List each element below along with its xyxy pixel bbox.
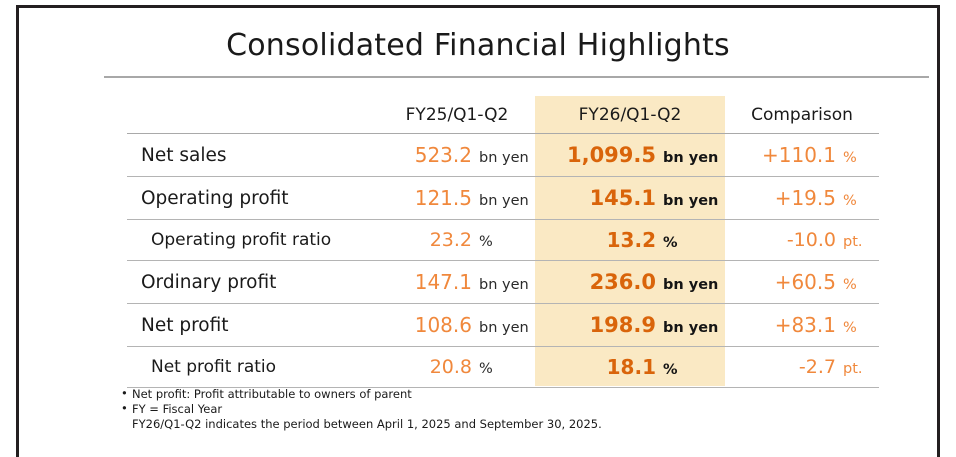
cell-unit: % [836,320,879,336]
cell-unit: bn yen [656,277,725,293]
cell-unit: bn yen [656,150,725,166]
cell-value: +83.1 [725,313,836,337]
cell-unit: % [836,193,879,209]
cell-value: 523.2 [379,143,472,167]
table-row: Operating profit ratio 23.2 % 13.2 % -10… [127,220,879,261]
cell-value: 20.8 [379,356,472,378]
table-row: Net profit ratio 20.8 % 18.1 % -2.7 pt. [127,347,879,388]
cell-comparison: -10.0 pt. [725,229,879,251]
cell-fy25: 23.2 % [379,229,535,251]
cell-value: 145.1 [535,186,656,210]
cell-fy26: 13.2 % [535,228,725,252]
footnote-subtext: FY26/Q1-Q2 indicates the period between … [119,417,602,432]
cell-comparison: +19.5 % [725,186,879,210]
cell-value: 121.5 [379,186,472,210]
row-label: Operating profit ratio [127,230,379,250]
footnote-text: FY = Fiscal Year [132,402,222,416]
cell-value: 236.0 [535,270,656,294]
row-label: Operating profit [127,188,379,209]
table-row: Ordinary profit 147.1 bn yen 236.0 bn ye… [127,261,879,304]
cell-value: 13.2 [535,228,656,252]
cell-comparison: +83.1 % [725,313,879,337]
table-row: Operating profit 121.5 bn yen 145.1 bn y… [127,177,879,220]
cell-unit: % [836,277,879,293]
cell-fy26: 198.9 bn yen [535,313,725,337]
table-row: Net profit 108.6 bn yen 198.9 bn yen +83… [127,304,879,347]
column-header-fy26: FY26/Q1-Q2 [535,96,725,134]
cell-fy25: 523.2 bn yen [379,143,535,167]
cell-unit: % [656,235,725,251]
cell-value: 108.6 [379,313,472,337]
cell-fy25: 147.1 bn yen [379,270,535,294]
footnotes: • Net profit: Profit attributable to own… [119,387,602,432]
cell-value: 1,099.5 [535,143,656,167]
bullet-icon: • [121,401,128,416]
row-label: Net profit ratio [127,357,379,377]
cell-unit: % [656,362,725,378]
cell-value: +19.5 [725,186,836,210]
page-title: Consolidated Financial Highlights [19,28,937,63]
cell-value: 23.2 [379,229,472,251]
cell-value: -2.7 [725,356,836,378]
cell-comparison: +60.5 % [725,270,879,294]
cell-fy25: 121.5 bn yen [379,186,535,210]
cell-fy26: 145.1 bn yen [535,186,725,210]
row-label: Net sales [127,145,379,166]
column-header-comparison: Comparison [725,96,879,134]
cell-unit: bn yen [656,320,725,336]
cell-comparison: -2.7 pt. [725,356,879,378]
financial-highlights-table: FY25/Q1-Q2 FY26/Q1-Q2 Comparison Net sal… [127,96,879,388]
cell-fy26: 1,099.5 bn yen [535,143,725,167]
cell-value: +60.5 [725,270,836,294]
cell-value: +110.1 [725,143,836,167]
row-label: Net profit [127,315,379,336]
cell-unit: bn yen [472,320,535,336]
cell-fy25: 20.8 % [379,356,535,378]
footnote-item: • FY = Fiscal Year [119,402,602,417]
row-label: Ordinary profit [127,272,379,293]
cell-value: 147.1 [379,270,472,294]
cell-value: -10.0 [725,229,836,251]
cell-unit: bn yen [472,150,535,166]
table-header-row: FY25/Q1-Q2 FY26/Q1-Q2 Comparison [127,96,879,134]
cell-comparison: +110.1 % [725,143,879,167]
column-header-fy25: FY25/Q1-Q2 [379,96,535,134]
cell-unit: bn yen [472,277,535,293]
cell-unit: bn yen [656,193,725,209]
slide: Consolidated Financial Highlights FY25/Q… [0,0,956,457]
bullet-icon: • [121,386,128,401]
footnote-text: Net profit: Profit attributable to owner… [132,387,412,401]
cell-unit: bn yen [472,193,535,209]
cell-unit: % [472,361,535,377]
cell-value: 198.9 [535,313,656,337]
cell-fy26: 236.0 bn yen [535,270,725,294]
slide-frame: Consolidated Financial Highlights FY25/Q… [16,5,940,457]
title-divider [104,76,929,78]
cell-unit: pt. [836,234,879,250]
cell-fy26: 18.1 % [535,355,725,379]
cell-value: 18.1 [535,355,656,379]
table-row: Net sales 523.2 bn yen 1,099.5 bn yen +1… [127,134,879,177]
footnote-item: • Net profit: Profit attributable to own… [119,387,602,402]
cell-unit: pt. [836,361,879,377]
cell-unit: % [836,150,879,166]
cell-unit: % [472,234,535,250]
cell-fy25: 108.6 bn yen [379,313,535,337]
